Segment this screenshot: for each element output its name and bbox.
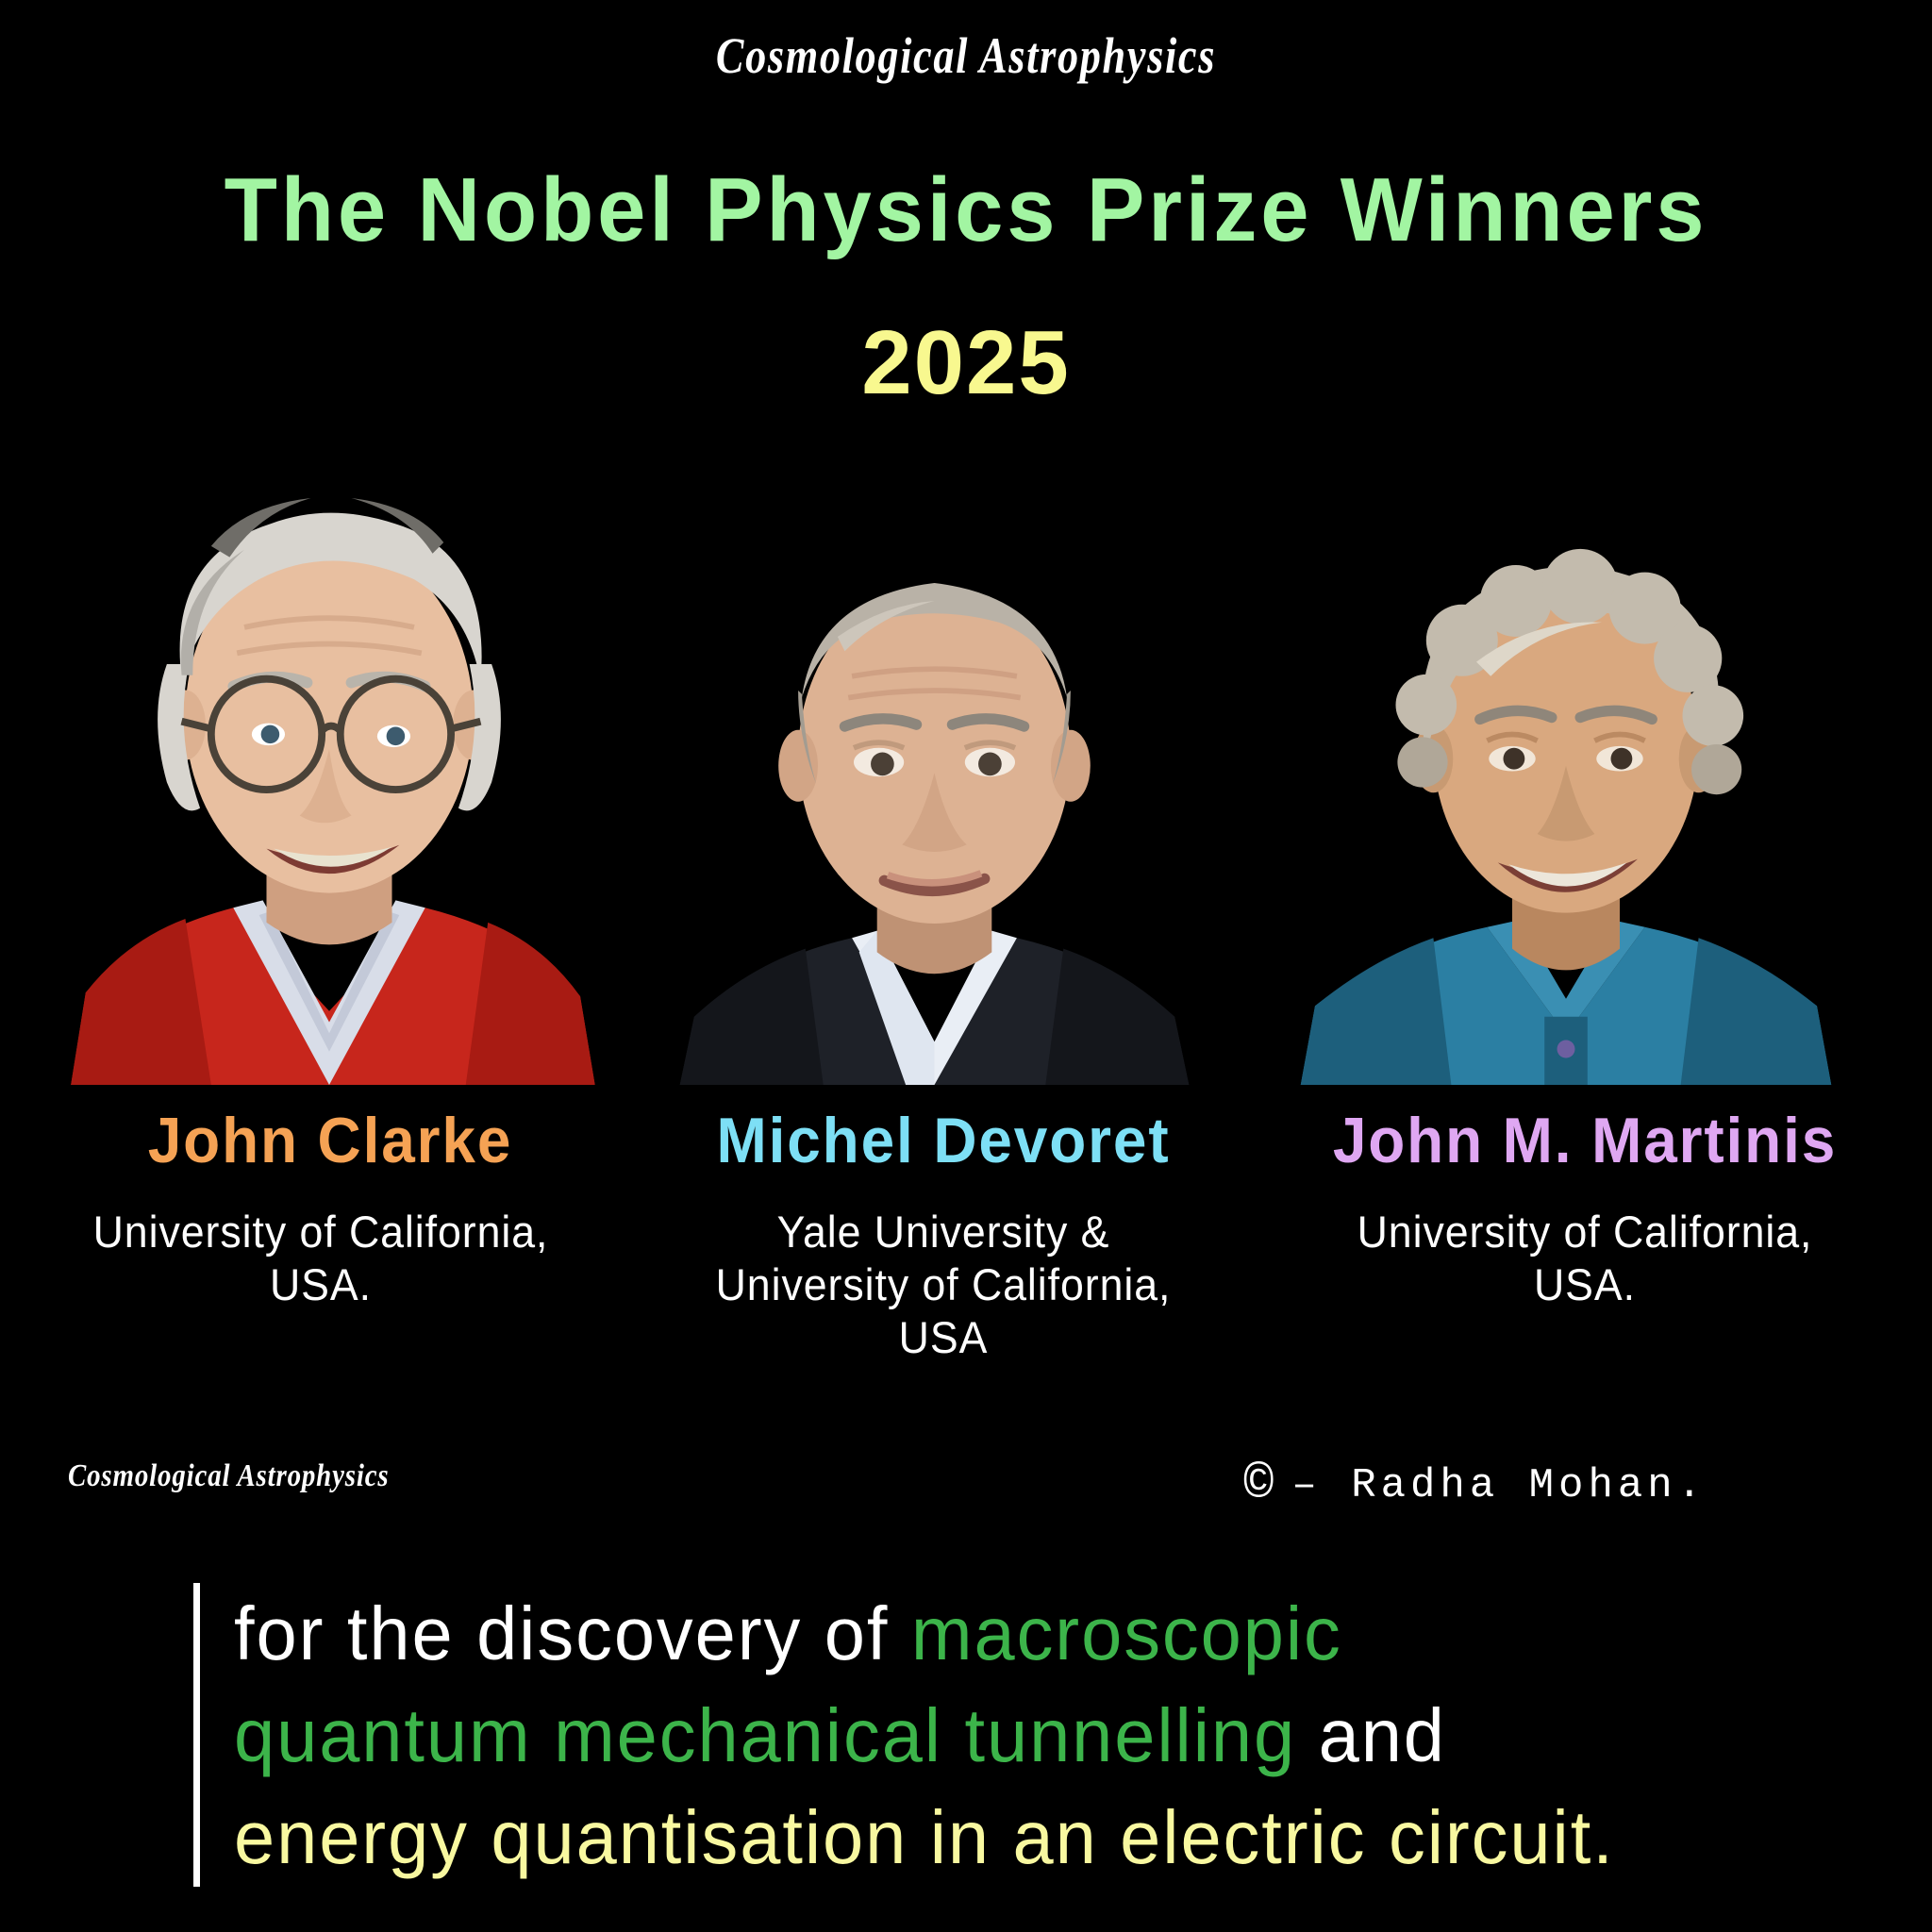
citation-line2-white: and: [1319, 1693, 1446, 1777]
portrait-john-martinis: [1236, 511, 1896, 1085]
portrait-card-1: [52, 458, 607, 1085]
citation-line-1: for the discovery of macroscopic: [234, 1583, 1615, 1685]
portrait-michel-devoret: [644, 511, 1224, 1085]
page-title: The Nobel Physics Prize Winners: [39, 158, 1893, 262]
laureate-affiliation-3: University of California, USA.: [1280, 1206, 1890, 1311]
copyright-author: – Radha Mohan.: [1291, 1462, 1707, 1509]
laureate-name-3: John M. Martinis: [1274, 1104, 1895, 1177]
laureate-affiliation-2: Yale University & University of Californ…: [657, 1206, 1230, 1364]
citation-text: for the discovery of macroscopic quantum…: [234, 1583, 1615, 1889]
copyright-credit: © – Radha Mohan.: [1243, 1460, 1707, 1511]
brand-bottom-label: Cosmological Astrophysics: [68, 1458, 390, 1494]
citation-line1-green: macroscopic: [911, 1591, 1342, 1675]
citation-line-2: quantum mechanical tunnelling and: [234, 1685, 1615, 1787]
laureate-name-1: John Clarke: [46, 1104, 614, 1177]
laureate-names-row: John Clarke Michel Devoret John M. Marti…: [0, 1104, 1932, 1217]
page-year: 2025: [0, 311, 1932, 415]
citation-line-3: energy quantisation in an electric circu…: [234, 1787, 1615, 1889]
laureate-name-2: Michel Devoret: [659, 1104, 1227, 1177]
copyright-icon: ©: [1243, 1460, 1278, 1511]
portrait-card-3: [1236, 511, 1896, 1085]
laureate-affiliation-1: University of California, USA.: [34, 1206, 608, 1311]
citation-block: for the discovery of macroscopic quantum…: [193, 1583, 1910, 1889]
portrait-john-clarke: [52, 458, 607, 1085]
citation-accent-bar: [193, 1583, 200, 1887]
citation-line2-green: quantum mechanical tunnelling: [234, 1693, 1296, 1777]
portrait-row: [0, 443, 1932, 1085]
citation-line1-white: for the discovery of: [234, 1591, 889, 1675]
brand-top-label: Cosmological Astrophysics: [174, 26, 1757, 85]
laureate-affiliations-row: University of California, USA. Yale Univ…: [0, 1206, 1932, 1423]
portrait-card-2: [644, 511, 1224, 1085]
